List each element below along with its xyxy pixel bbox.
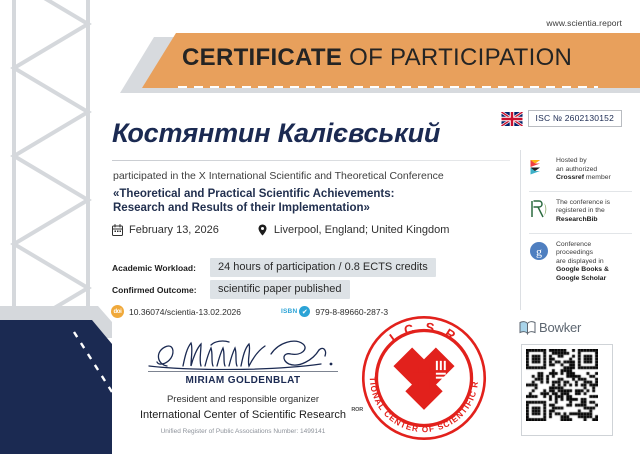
badge-researchbib-brand: ResearchBib [556,216,598,223]
isbn-verified-icon: ISBN ✔ [281,306,310,317]
date-item: February 13, 2026 [112,224,219,236]
badge-researchbib-text: The conference is registered in the Rese… [556,199,610,225]
left-decorative-border [0,0,112,454]
participation-line: participated in the X International Scie… [113,170,444,182]
zigzag-pattern-icon [0,0,112,454]
isc-number: ISC № 2602130152 [528,110,622,127]
certificate-title: CERTIFICATE OF PARTICIPATION [182,44,572,72]
confirmed-outcome-value: scientific paper published [210,280,350,299]
crossref-icon [529,157,549,177]
isc-number-row: ISC № 2602130152 [501,110,622,127]
sidebar-divider [520,150,521,310]
calendar-icon [112,224,123,236]
certificate-title-rest: OF PARTICIPATION [342,44,572,71]
location-text: Liverpool, England; United Kingdom [274,224,450,236]
identifiers-row: doi 10.36074/scientia-13.02.2026 ISBN ✔ … [111,305,388,318]
map-pin-icon [257,224,268,236]
badge-crossref-line2: an authorized [556,166,611,175]
date-location-row: February 13, 2026 Liverpool, England; Un… [112,224,449,236]
confirmed-outcome-label: Confirmed Outcome: [112,285,204,295]
signature-block: MIRIAM GOLDENBLAT President and responsi… [128,336,358,435]
certificate-title-bold: CERTIFICATE [182,44,342,71]
bowker-book-icon [519,320,536,335]
doi-item[interactable]: doi 10.36074/scientia-13.02.2026 [111,305,241,318]
badge-researchbib: The conference is registered in the Rese… [520,192,632,233]
svg-text:g: g [536,244,542,258]
badge-crossref-text: Hosted by an authorized Crossref member [556,157,611,183]
signatory-organization: International Center of Scientific Resea… [140,409,346,421]
badge-crossref-brand: Crossref [556,174,584,181]
name-underline-rule [112,160,510,161]
public-register-number: Unified Register of Public Associations … [128,428,358,435]
conference-title-line2: Research and Results of their Implementa… [113,201,513,215]
location-item: Liverpool, England; United Kingdom [257,224,450,236]
badge-gs-line4: Google Books & [556,266,609,273]
certificate-title-banner: CERTIFICATE OF PARTICIPATION [120,33,640,95]
badge-gs-line1: Conference [556,241,609,250]
badge-crossref: Hosted by an authorized Crossref member [520,150,632,191]
conference-title: «Theoretical and Practical Scientific Ac… [113,187,513,215]
badge-researchbib-line1: The conference is [556,199,610,208]
icsr-seal-icon: I C S R INTERNATIONAL CENTER OF SCIENTIF… [358,312,490,444]
badge-crossref-line3-rest: member [584,174,611,181]
badge-crossref-line1: Hosted by [556,157,611,166]
certificate-page: www.scientia.report CERTIFICATE OF PARTI… [0,0,640,454]
academic-workload-label: Academic Workload: [112,263,204,273]
conference-title-line1: «Theoretical and Practical Scientific Ac… [113,187,513,201]
academic-workload-row: Academic Workload: 24 hours of participa… [112,258,436,277]
google-scholar-icon: g [529,241,549,261]
banner-dashed-line [178,86,598,88]
date-text: February 13, 2026 [129,224,219,236]
signatory-organization-text: International Center of Scientific Resea… [140,409,346,421]
badge-gs-line5: Google Scholar [556,275,606,282]
signatory-role: President and responsible organizer [128,394,358,405]
qr-code-icon[interactable] [521,344,613,436]
badge-google-scholar: g Conference proceedings are displayed i… [520,234,632,292]
site-url: www.scientia.report [546,18,622,28]
recipient-name: Костянтин Калієвський [112,118,512,149]
signatory-name: MIRIAM GOLDENBLAT [128,375,358,386]
doi-icon: doi [111,305,124,318]
accreditation-badges: Hosted by an authorized Crossref member … [520,150,632,292]
doi-text: 10.36074/scientia-13.02.2026 [129,307,241,317]
badge-researchbib-line2: registered in the [556,207,610,216]
bowker-logo: Bowker [519,320,581,335]
isbn-mark-text: ISBN [281,308,297,315]
isbn-check-icon: ✔ [299,306,310,317]
badge-gs-line3: are displayed in [556,258,609,267]
researchbib-icon [529,199,549,219]
handwritten-signature-icon [143,336,343,370]
badge-gs-line2: proceedings [556,249,609,258]
confirmed-outcome-row: Confirmed Outcome: scientific paper publ… [112,280,350,299]
signature-rule [148,371,338,372]
bowker-name: Bowker [539,320,581,335]
academic-workload-value: 24 hours of participation / 0.8 ECTS cre… [210,258,436,277]
badge-google-scholar-text: Conference proceedings are displayed in … [556,241,609,284]
